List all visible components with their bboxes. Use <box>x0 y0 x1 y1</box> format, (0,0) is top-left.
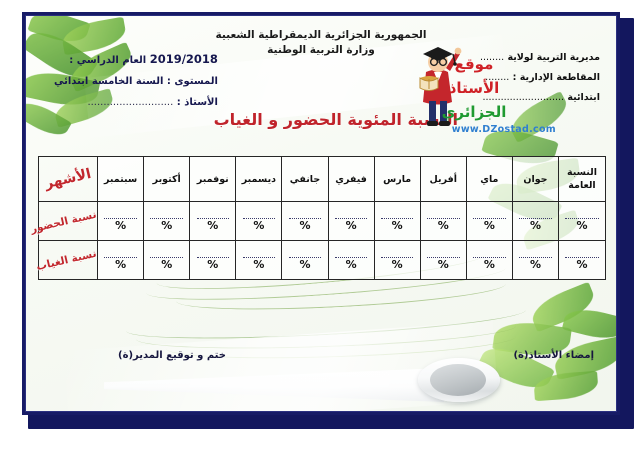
header-month-feb: فيفري <box>328 157 374 202</box>
absence-cell-may[interactable]: % <box>466 241 512 280</box>
cell-dotted-line <box>197 210 229 219</box>
cell-dotted-line <box>243 210 275 219</box>
cell-dotted-line <box>565 249 598 258</box>
page-frame: الجمهورية الجزائرية الديمقراطية الشعبية … <box>22 12 620 415</box>
cell-dotted-line <box>381 210 413 219</box>
header-months-label: الأشهر <box>38 165 98 194</box>
cell-percent: % <box>484 259 495 271</box>
attendance-table: النسبة العامة جوان ماي أفريل مارس فيفري … <box>38 156 606 280</box>
header-month-jan: جانفي <box>282 157 328 202</box>
grass-stroke <box>126 296 527 346</box>
attendance-table-wrap: النسبة العامة جوان ماي أفريل مارس فيفري … <box>38 156 606 280</box>
presence-cell-apr[interactable]: % <box>420 202 466 241</box>
cell-dotted-line <box>335 210 367 219</box>
cell-percent: % <box>161 220 172 232</box>
presence-cell-may[interactable]: % <box>466 202 512 241</box>
presence-cell-oct[interactable]: % <box>144 202 190 241</box>
row-label-absence-cell: نسبة الغياب <box>39 241 98 280</box>
page-inner: الجمهورية الجزائرية الديمقراطية الشعبية … <box>25 15 617 412</box>
presence-cell-mar[interactable]: % <box>374 202 420 241</box>
presence-cell-sep[interactable]: % <box>98 202 144 241</box>
cell-percent: % <box>207 259 218 271</box>
header-month-oct: أكتوبر <box>144 157 190 202</box>
table-header-row: النسبة العامة جوان ماي أفريل مارس فيفري … <box>39 157 606 202</box>
row-label-presence-cell: نسبة الحضور <box>39 202 98 241</box>
cell-percent: % <box>161 259 172 271</box>
directorate-value-dots: ........ <box>480 52 504 63</box>
directorate-row: مديرية التربية لولاية ........ <box>480 48 600 68</box>
cell-percent: % <box>530 220 541 232</box>
cell-dotted-line <box>427 249 459 258</box>
header-month-mar: مارس <box>374 157 420 202</box>
cell-percent: % <box>576 259 587 271</box>
cell-dotted-line <box>427 210 459 219</box>
cell-dotted-line <box>335 249 367 258</box>
header-month-nov: نوفمبر <box>190 157 236 202</box>
cell-percent: % <box>576 220 587 232</box>
ministry-line: وزارة التربية الوطنية <box>216 43 427 58</box>
cell-percent: % <box>530 259 541 271</box>
presence-cell-dec[interactable]: % <box>236 202 282 241</box>
presence-general-cell[interactable]: % <box>559 202 606 241</box>
cell-dotted-line <box>150 210 182 219</box>
cell-dotted-line <box>104 210 137 219</box>
cell-dotted-line <box>150 249 182 258</box>
header-month-sep: سبتمبر <box>98 157 144 202</box>
teacher-label: الأستاذ : <box>177 97 218 108</box>
table-row-presence: % % % % % % % % % % % <box>39 202 606 241</box>
cell-dotted-line <box>519 210 551 219</box>
header-month-apr: أفريل <box>420 157 466 202</box>
school-year-value: 2019/2018 <box>150 52 218 66</box>
absence-cell-jan[interactable]: % <box>282 241 328 280</box>
district-label: المقاطعة الإدارية : <box>513 72 600 83</box>
cell-dotted-line <box>197 249 229 258</box>
cell-dotted-line <box>565 210 598 219</box>
absence-cell-feb[interactable]: % <box>328 241 374 280</box>
absence-general-cell[interactable]: % <box>559 241 606 280</box>
cell-dotted-line <box>473 249 505 258</box>
leaf-icon <box>527 282 599 333</box>
header-month-dec: ديسمبر <box>236 157 282 202</box>
district-row: المقاطعة الإدارية : ........ <box>480 68 600 88</box>
header-month-may: ماي <box>466 157 512 202</box>
absence-cell-dec[interactable]: % <box>236 241 282 280</box>
leaf-icon <box>562 304 617 344</box>
school-label: ابتدائية <box>567 92 600 103</box>
header-month-jun: جوان <box>512 157 558 202</box>
cell-dotted-line <box>473 210 505 219</box>
cell-percent: % <box>115 220 126 232</box>
header-left-block: 2019/2018 العام الدراسي : المستوى : السن… <box>54 49 218 113</box>
header-right-block: مديرية التربية لولاية ........ المقاطعة … <box>480 48 600 108</box>
level-value: السنة الخامسة ابتدائي <box>54 76 163 87</box>
teacher-value-dots: ........................... <box>87 97 173 108</box>
cell-dotted-line <box>519 249 551 258</box>
absence-cell-mar[interactable]: % <box>374 241 420 280</box>
republic-line-1: الجمهورية الجزائرية الديمقراطية الشعبية <box>216 28 427 43</box>
presence-cell-jan[interactable]: % <box>282 202 328 241</box>
absence-cell-sep[interactable]: % <box>98 241 144 280</box>
document-header: الجمهورية الجزائرية الديمقراطية الشعبية … <box>26 16 616 146</box>
cell-percent: % <box>299 259 310 271</box>
presence-cell-nov[interactable]: % <box>190 202 236 241</box>
cell-dotted-line <box>381 249 413 258</box>
teacher-signature-label: إمضاء الأستاذ(ة) <box>513 350 594 361</box>
school-value-dots: ........................... <box>482 92 564 103</box>
document-footer: إمضاء الأستاذ(ة) ختم و توقيع المدير(ة) <box>26 346 616 376</box>
cell-percent: % <box>253 259 264 271</box>
level-row: المستوى : السنة الخامسة ابتدائي <box>54 71 218 92</box>
level-label: المستوى : <box>167 76 218 87</box>
cell-percent: % <box>115 259 126 271</box>
cell-dotted-line <box>289 210 321 219</box>
absence-cell-jun[interactable]: % <box>512 241 558 280</box>
presence-cell-feb[interactable]: % <box>328 202 374 241</box>
cell-percent: % <box>207 220 218 232</box>
header-months-label-cell: الأشهر <box>39 157 98 202</box>
cell-dotted-line <box>104 249 137 258</box>
cell-dotted-line <box>243 249 275 258</box>
teacher-mascot-icon <box>412 38 464 130</box>
cell-percent: % <box>253 220 264 232</box>
site-url: www.DZostad.com <box>452 124 556 135</box>
absence-cell-oct[interactable]: % <box>144 241 190 280</box>
republic-heading: الجمهورية الجزائرية الديمقراطية الشعبية … <box>216 28 427 58</box>
absence-cell-nov[interactable]: % <box>190 241 236 280</box>
cell-percent: % <box>299 220 310 232</box>
row-label-absence: نسبة الغياب <box>38 248 97 273</box>
cell-percent: % <box>392 220 403 232</box>
cell-percent: % <box>484 220 495 232</box>
teacher-row: الأستاذ : ........................... <box>54 92 218 113</box>
cell-percent: % <box>346 220 357 232</box>
school-row: ابتدائية ........................... <box>480 88 600 108</box>
cell-dotted-line <box>289 249 321 258</box>
row-label-presence: نسبة الحضور <box>38 209 97 234</box>
school-year-row: 2019/2018 العام الدراسي : <box>54 49 218 71</box>
district-value-dots: ........ <box>485 72 509 83</box>
cell-percent: % <box>346 259 357 271</box>
school-year-label: العام الدراسي : <box>69 55 146 66</box>
cell-percent: % <box>392 259 403 271</box>
table-row-absence: % % % % % % % % % % % <box>39 241 606 280</box>
document-page: الجمهورية الجزائرية الديمقراطية الشعبية … <box>0 0 640 453</box>
header-general-rate: النسبة العامة <box>559 157 606 202</box>
cell-percent: % <box>438 220 449 232</box>
director-signature-label: ختم و توقيع المدير(ة) <box>118 350 226 361</box>
directorate-label: مديرية التربية لولاية <box>507 52 600 63</box>
presence-cell-jun[interactable]: % <box>512 202 558 241</box>
absence-cell-apr[interactable]: % <box>420 241 466 280</box>
cell-percent: % <box>438 259 449 271</box>
